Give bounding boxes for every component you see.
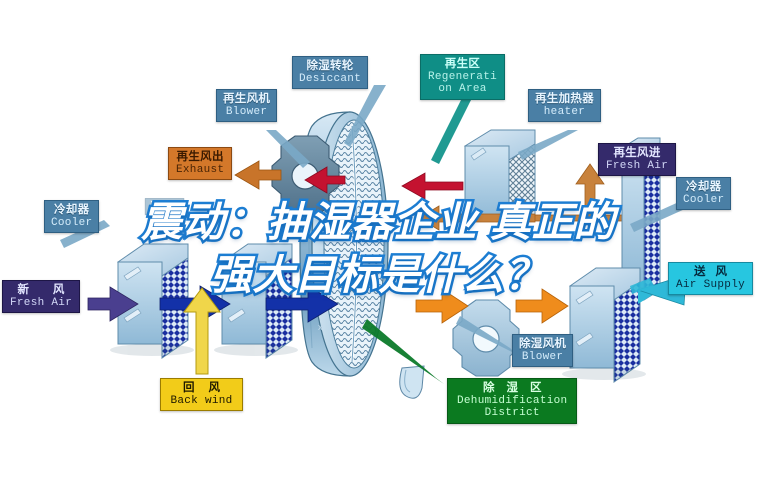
label-exhaust: 再生风出 Exhaust: [168, 147, 232, 180]
supply-coil: [570, 268, 640, 382]
label-exhaust-en: Exhaust: [176, 164, 224, 176]
label-dehumidification-district: 除湿区 Dehumidification District: [447, 378, 577, 424]
label-regeneration-area-en2: on Area: [428, 83, 497, 95]
label-regen-heater-cn: 再生加热器: [535, 93, 594, 106]
label-regen-blower-en: Blower: [223, 106, 270, 118]
label-dehum-blower-cn: 除湿风机: [519, 338, 566, 351]
label-back-wind-cn: 回风: [169, 382, 234, 395]
label-cooler-left-cn: 冷却器: [51, 204, 92, 217]
dry-air-arrow-2: [516, 289, 568, 323]
condensate-drain: [400, 366, 424, 398]
label-fresh-air: 新 风 Fresh Air: [2, 280, 80, 313]
label-air-supply-en: Air Supply: [676, 279, 745, 291]
label-regeneration-area: 再生区 Regenerati on Area: [420, 54, 505, 100]
label-regen-blower-cn: 再生风机: [223, 93, 270, 106]
label-cooler-right-cn: 冷却器: [683, 181, 724, 194]
regen-hot-arrow-2: [402, 173, 463, 199]
label-dehum-blower: 除湿风机 Blower: [512, 334, 573, 367]
label-fresh-air-en: Fresh Air: [10, 297, 72, 309]
label-fresh-air-cn: 新 风: [10, 284, 72, 297]
label-dehum-district-en2: District: [457, 407, 567, 419]
label-dehum-blower-en: Blower: [519, 351, 566, 363]
schematic-canvas: xt: [0, 0, 757, 488]
label-air-supply-cn: 送风: [676, 266, 745, 279]
label-cooler-right-en: Cooler: [683, 194, 724, 206]
label-back-wind-en: Back wind: [169, 395, 234, 407]
label-exhaust-cn: 再生风出: [176, 151, 224, 164]
label-regen-blower: 再生风机 Blower: [216, 89, 277, 122]
label-regen-fresh-air-en: Fresh Air: [606, 160, 668, 172]
label-desiccant-en: Desiccant: [299, 73, 361, 85]
label-air-supply: 送风 Air Supply: [668, 262, 753, 295]
label-desiccant-cn: 除湿转轮: [299, 60, 361, 73]
label-regeneration-area-en1: Regenerati: [428, 71, 497, 83]
label-desiccant: 除湿转轮 Desiccant: [292, 56, 368, 89]
label-cooler-left: 冷却器 Cooler: [44, 200, 99, 233]
schematic-artwork: xt: [0, 0, 757, 488]
label-dehum-district-cn: 除湿区: [457, 382, 567, 395]
cooler-ghost-label: 冷却器: [145, 198, 185, 215]
label-regen-fresh-air: 再生风进 Fresh Air: [598, 143, 676, 176]
label-regen-heater: 再生加热器 heater: [528, 89, 601, 122]
label-cooler-left-en: Cooler: [51, 217, 92, 229]
cooler-ghost-cn: 冷却器: [151, 201, 179, 211]
label-regen-fresh-air-cn: 再生风进: [606, 147, 668, 160]
svg-text:xt: xt: [318, 322, 326, 332]
label-regen-heater-en: heater: [535, 106, 594, 118]
label-back-wind: 回风 Back wind: [160, 378, 243, 411]
label-dehum-district-en1: Dehumidification: [457, 395, 567, 407]
label-regeneration-area-cn: 再生区: [428, 58, 497, 71]
label-cooler-right: 冷却器 Cooler: [676, 177, 731, 210]
